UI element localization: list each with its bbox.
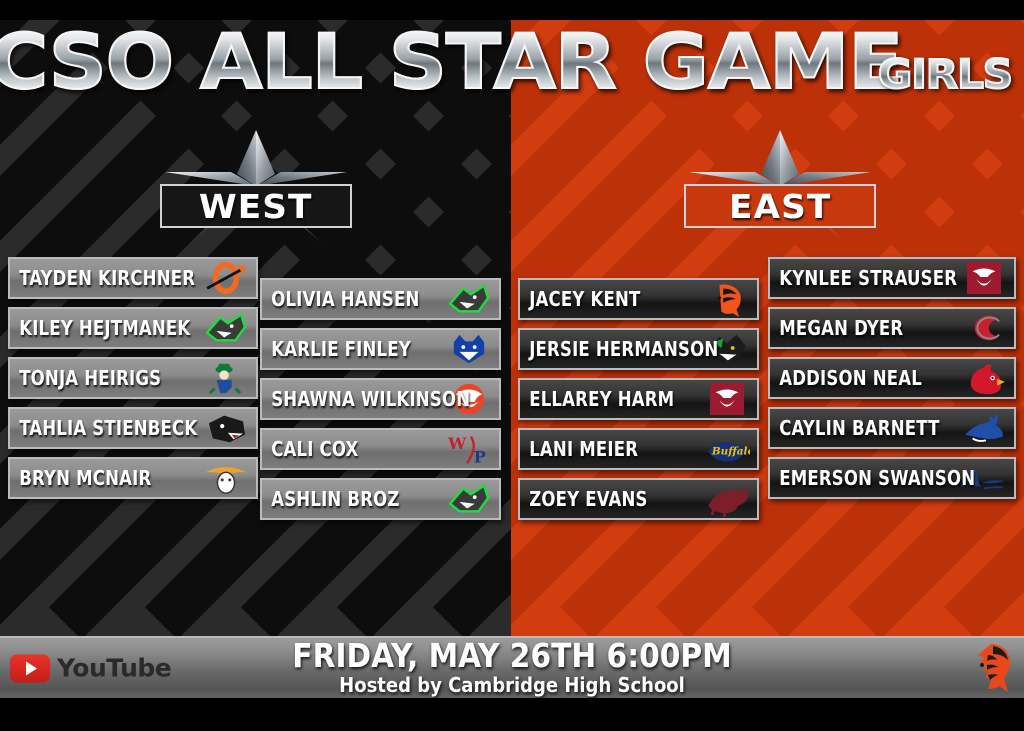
west-column-2: OLIVIA HANSEN KARLIE FINLEY SHAWNA WILKI… — [260, 278, 501, 520]
player-plate: KARLIE FINLEY — [260, 328, 501, 370]
player-name: KARLIE FINLEY — [262, 339, 430, 359]
player-name: JERSIE HERMANSON — [520, 339, 688, 359]
svg-text:W: W — [447, 434, 467, 453]
player-plate: CAYLIN BARNETT — [768, 407, 1016, 449]
player-plate: OLIVIA HANSEN — [260, 278, 501, 320]
player-name: SHAWNA WILKINSON — [262, 389, 430, 409]
player-plate: JERSIE HERMANSON — [518, 328, 759, 370]
svg-text:Buffaloes: Buffaloes — [711, 446, 750, 458]
footer-bar: YouTube FRIDAY, MAY 26TH 6:00PM Hosted b… — [0, 636, 1024, 698]
page-subtitle: GIRLS — [878, 55, 1012, 95]
wolf-head-green-logo — [445, 280, 493, 318]
player-plate: SHAWNA WILKINSON — [260, 378, 501, 420]
player-plate: KYNLEE STRAUSER — [768, 257, 1016, 299]
player-plate: TAHLIA STIENBECK — [8, 407, 258, 449]
mustang-blue-logo — [960, 409, 1008, 447]
east-label: EAST — [729, 190, 831, 223]
east-badge-bar: EAST — [684, 184, 876, 228]
page-title: CSO ALL STAR GAME — [0, 24, 902, 100]
cardinal-head-logo — [960, 359, 1008, 397]
player-name: MEGAN DYER — [770, 318, 945, 338]
viking-crimson-logo — [703, 380, 751, 418]
wp-monogram-logo: W P — [445, 430, 493, 468]
player-name: CAYLIN BARNETT — [770, 418, 945, 438]
player-plate: TAYDEN KIRCHNER — [8, 257, 258, 299]
trojan-helmet-icon — [960, 641, 1018, 695]
player-plate: EMERSON SWANSONA — [768, 457, 1016, 499]
player-name: JACEY KENT — [520, 289, 688, 309]
player-plate: LANI MEIER Buffaloes — [518, 428, 759, 470]
arrow-o-logo — [202, 259, 250, 297]
east-column-1: JACEY KENT JERSIE HERMANSON ELLAREY HARM… — [518, 278, 759, 520]
player-plate: ELLAREY HARM — [518, 378, 759, 420]
player-name: ELLAREY HARM — [520, 389, 688, 409]
event-info: FRIDAY, MAY 26TH 6:00PM Hosted by Cambri… — [0, 639, 1024, 698]
player-name: OLIVIA HANSEN — [262, 289, 430, 309]
buffaloes-script-logo: Buffaloes — [703, 430, 751, 468]
player-plate: KILEY HEJTMANEK — [8, 307, 258, 349]
event-host: Hosted by Cambridge High School — [0, 673, 1024, 697]
panther-head-logo — [202, 409, 250, 447]
player-name: KYNLEE STRAUSER — [770, 268, 945, 288]
c-monogram-red-logo — [960, 309, 1008, 347]
west-label: WEST — [199, 190, 313, 223]
wolf-head-green-logo — [202, 309, 250, 347]
wolf-head-green-logo — [445, 480, 493, 518]
player-plate: BRYN MCNAIR — [8, 457, 258, 499]
player-name: TONJA HEIRIGS — [10, 368, 187, 388]
player-plate: CALI COXW P — [260, 428, 501, 470]
longhorn-logo — [202, 459, 250, 497]
event-date: FRIDAY, MAY 26TH 6:00PM — [0, 639, 1024, 674]
west-badge-bar: WEST — [160, 184, 352, 228]
player-name: BRYN MCNAIR — [10, 468, 187, 488]
bull-maroon-logo — [703, 480, 751, 518]
player-name: EMERSON SWANSON — [770, 468, 945, 488]
player-plate: ASHLIN BROZ — [260, 478, 501, 520]
player-plate: TONJA HEIRIGS — [8, 357, 258, 399]
west-column-1: TAYDEN KIRCHNER KILEY HEJTMANEK TONJA HE… — [8, 257, 258, 499]
player-name: LANI MEIER — [520, 439, 688, 459]
player-plate: MEGAN DYER — [768, 307, 1016, 349]
player-name: TAYDEN KIRCHNER — [10, 268, 187, 288]
player-plate: JACEY KENT — [518, 278, 759, 320]
player-name: KILEY HEJTMANEK — [10, 318, 187, 338]
wildcat-blue-logo — [445, 330, 493, 368]
player-name: TAHLIA STIENBECK — [10, 418, 187, 438]
player-plate: ZOEY EVANS — [518, 478, 759, 520]
letterbox-top — [0, 0, 1024, 20]
player-name: ZOEY EVANS — [520, 489, 688, 509]
player-plate: ADDISON NEAL — [768, 357, 1016, 399]
trojan-helmet-logo — [703, 280, 751, 318]
player-name: ASHLIN BROZ — [262, 489, 430, 509]
player-name: CALI COX — [262, 439, 430, 459]
player-name: ADDISON NEAL — [770, 368, 945, 388]
viking-crimson-logo — [960, 259, 1008, 297]
svg-text:P: P — [474, 447, 486, 466]
west-team-badge: WEST — [140, 128, 372, 250]
title-block: CSO ALL STAR GAME GIRLS — [0, 24, 1024, 100]
east-team-badge: EAST — [664, 128, 896, 250]
east-column-2: KYNLEE STRAUSER MEGAN DYER ADDISON NEAL … — [768, 257, 1016, 499]
leprechaun-logo — [202, 359, 250, 397]
poster-stage: CSO ALL STAR GAME GIRLS WEST — [0, 0, 1024, 731]
letterbox-bottom — [0, 698, 1024, 731]
